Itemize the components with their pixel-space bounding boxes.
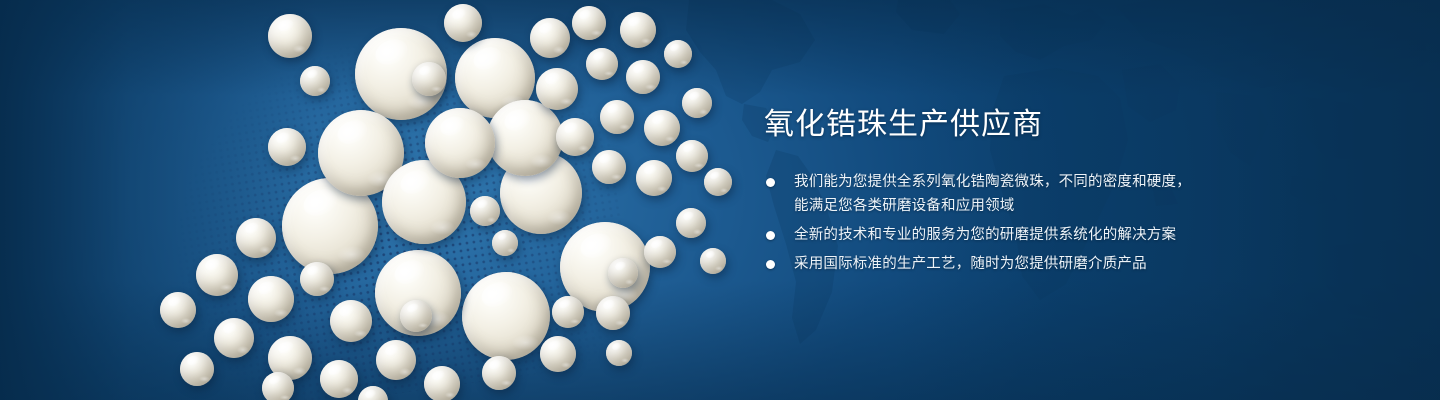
bead (444, 4, 482, 42)
list-item: 我们能为您提供全系列氧化锆陶瓷微珠，不同的密度和硬度， 能满足您各类研磨设备和应… (764, 170, 1364, 218)
zirconia-bead-cluster (0, 0, 760, 400)
bullet-dot-icon (766, 231, 775, 240)
bead (676, 140, 708, 172)
bead (214, 318, 254, 358)
page-title: 氧化锆珠生产供应商 (764, 106, 1364, 144)
bead (606, 340, 632, 366)
bullet-line: 我们能为您提供全系列氧化锆陶瓷微珠，不同的密度和硬度， (794, 170, 1364, 194)
bead (196, 254, 238, 296)
bead (644, 110, 680, 146)
bead (704, 168, 732, 196)
bullet-line: 采用国际标准的生产工艺，随时为您提供研磨介质产品 (794, 252, 1364, 276)
bead (400, 300, 432, 332)
bead (160, 292, 196, 328)
bead (572, 6, 606, 40)
hero-banner: 氧化锆珠生产供应商 我们能为您提供全系列氧化锆陶瓷微珠，不同的密度和硬度， 能满… (0, 0, 1440, 400)
bead (664, 40, 692, 68)
bead (248, 276, 294, 322)
bead (376, 340, 416, 380)
bead (492, 230, 518, 256)
bead (592, 150, 626, 184)
bullet-dot-icon (766, 178, 775, 187)
list-item: 采用国际标准的生产工艺，随时为您提供研磨介质产品 (764, 252, 1364, 276)
bead (268, 128, 306, 166)
feature-list: 我们能为您提供全系列氧化锆陶瓷微珠，不同的密度和硬度， 能满足您各类研磨设备和应… (764, 170, 1364, 276)
bead (536, 68, 578, 110)
bead (620, 12, 656, 48)
bullet-line: 全新的技术和专业的服务为您的研磨提供系统化的解决方案 (794, 223, 1364, 247)
bead (262, 372, 294, 400)
bead (470, 196, 500, 226)
bead (425, 108, 495, 178)
bead (300, 66, 330, 96)
list-item: 全新的技术和专业的服务为您的研磨提供系统化的解决方案 (764, 223, 1364, 247)
bead (180, 352, 214, 386)
bead (236, 218, 276, 258)
bead (482, 356, 516, 390)
bead (636, 160, 672, 196)
bead (676, 208, 706, 238)
bead (424, 366, 460, 400)
bead (530, 18, 570, 58)
bullet-line: 能满足您各类研磨设备和应用领域 (794, 194, 1364, 218)
bead (358, 386, 388, 400)
bead (644, 236, 676, 268)
bead (600, 100, 634, 134)
bead (462, 272, 550, 360)
bead (682, 88, 712, 118)
bead (552, 296, 584, 328)
bead (700, 248, 726, 274)
bead (487, 100, 563, 176)
bead (556, 118, 594, 156)
bead (268, 14, 312, 58)
bead (608, 258, 638, 288)
bead (412, 62, 446, 96)
bead (586, 48, 618, 80)
banner-copy: 氧化锆珠生产供应商 我们能为您提供全系列氧化锆陶瓷微珠，不同的密度和硬度， 能满… (764, 106, 1364, 281)
bead (626, 60, 660, 94)
bead (596, 296, 630, 330)
bead (330, 300, 372, 342)
bead (320, 360, 358, 398)
bead (300, 262, 334, 296)
bead (540, 336, 576, 372)
bullet-dot-icon (766, 260, 775, 269)
